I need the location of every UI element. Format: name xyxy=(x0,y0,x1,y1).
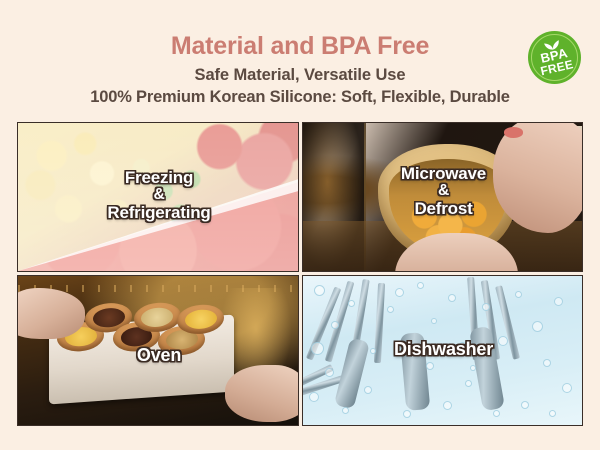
water-bubble xyxy=(395,288,404,297)
water-bubble xyxy=(443,401,452,410)
water-bubble xyxy=(431,318,437,324)
water-bubble xyxy=(470,365,476,371)
water-bubble xyxy=(364,386,372,394)
water-bubble xyxy=(426,362,434,370)
panel-freezing-refrigerating[interactable]: Freezing & Refrigerating xyxy=(17,122,299,272)
label-line-1: Dishwasher xyxy=(394,339,493,359)
water-bubble xyxy=(515,291,522,298)
water-bubble xyxy=(417,282,424,289)
label-line-2: Refrigerating xyxy=(107,203,210,222)
water-bubble xyxy=(554,297,563,306)
panel-label-microwave: Microwave & Defrost xyxy=(303,165,583,219)
panel-label-oven: Oven xyxy=(18,346,299,365)
label-ampersand: & xyxy=(303,183,583,200)
label-line-2: Defrost xyxy=(414,199,472,218)
panel-dishwasher[interactable]: Dishwasher xyxy=(302,275,583,426)
water-bubble xyxy=(493,410,500,417)
water-bubble xyxy=(562,383,572,393)
water-bubble xyxy=(403,410,411,418)
panel-oven[interactable]: Oven xyxy=(17,275,299,426)
water-bubble xyxy=(543,359,551,367)
water-bubble xyxy=(448,294,456,302)
panel-label-dishwasher: Dishwasher xyxy=(303,340,583,359)
subtitle-line-1: Safe Material, Versatile Use xyxy=(0,66,600,85)
water-bubble xyxy=(314,285,325,296)
water-bubble xyxy=(521,401,529,409)
panel-label-freezing: Freezing & Refrigerating xyxy=(18,169,299,223)
water-bubble xyxy=(532,321,543,332)
water-bubble xyxy=(325,368,334,377)
water-bubble xyxy=(342,407,349,414)
panel-microwave-defrost[interactable]: Microwave & Defrost xyxy=(302,122,583,272)
label-ampersand: & xyxy=(18,187,299,204)
water-bubble xyxy=(309,392,319,402)
page-title: Material and BPA Free xyxy=(0,32,600,61)
badge-text: BPA FREE xyxy=(527,43,584,80)
water-bubble xyxy=(348,300,355,307)
label-line-1: Microwave xyxy=(401,164,486,183)
water-bubble xyxy=(482,303,490,311)
header: Material and BPA Free Safe Material, Ver… xyxy=(0,0,600,118)
bpa-free-badge: BPA FREE xyxy=(528,31,581,84)
label-line-1: Oven xyxy=(137,345,181,365)
water-bubble xyxy=(465,380,472,387)
subtitle-line-2: 100% Premium Korean Silicone: Soft, Flex… xyxy=(0,88,600,107)
water-bubble xyxy=(549,410,556,417)
label-line-1: Freezing xyxy=(125,168,193,187)
feature-panel-grid: Freezing & Refrigerating Microwave & Def… xyxy=(17,122,583,426)
water-bubble xyxy=(387,306,394,313)
water-bubble xyxy=(331,321,339,329)
